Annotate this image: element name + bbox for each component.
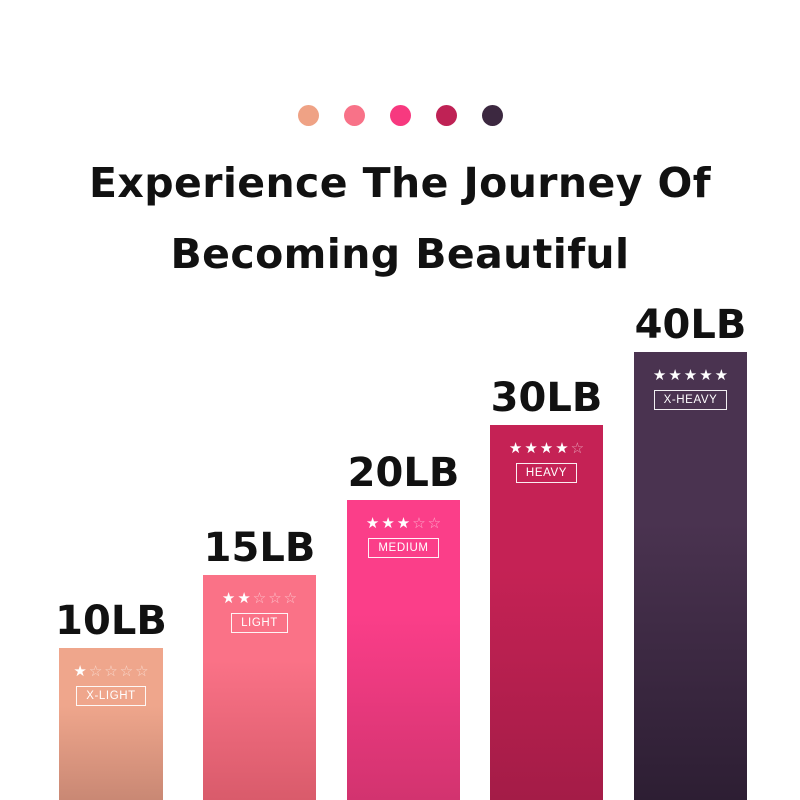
star-empty-icon: ☆ bbox=[89, 664, 102, 679]
star-filled-icon: ★ bbox=[555, 441, 568, 456]
resistance-level-bar-chart: 10LB★☆☆☆☆X-LIGHT15LB★★☆☆☆LIGHT20LB★★★☆☆M… bbox=[0, 0, 800, 800]
bar-15lb-star-rating: ★★☆☆☆ bbox=[222, 591, 297, 606]
bar-20lb-level-label: MEDIUM bbox=[368, 538, 438, 558]
star-filled-icon: ★ bbox=[73, 664, 86, 679]
bar-10lb-column: ★☆☆☆☆X-LIGHT bbox=[59, 648, 163, 800]
bar-40lb-weight-label: 40LB bbox=[635, 305, 747, 345]
bar-10lb-star-rating: ★☆☆☆☆ bbox=[73, 664, 148, 679]
star-empty-icon: ☆ bbox=[268, 591, 281, 606]
star-filled-icon: ★ bbox=[715, 368, 728, 383]
bar-10lb-level-label: X-LIGHT bbox=[76, 686, 146, 706]
bar-10lb-weight-label: 10LB bbox=[55, 601, 167, 641]
star-filled-icon: ★ bbox=[237, 591, 250, 606]
bar-20lb[interactable]: 20LB★★★☆☆MEDIUM bbox=[347, 500, 460, 800]
star-filled-icon: ★ bbox=[668, 368, 681, 383]
bar-20lb-weight-label: 20LB bbox=[348, 453, 460, 493]
star-filled-icon: ★ bbox=[366, 516, 379, 531]
star-filled-icon: ★ bbox=[699, 368, 712, 383]
bar-15lb-level-label: LIGHT bbox=[231, 613, 288, 633]
bar-20lb-badge: ★★★☆☆MEDIUM bbox=[347, 516, 460, 558]
bar-30lb-star-rating: ★★★★☆ bbox=[509, 441, 584, 456]
bar-15lb-badge: ★★☆☆☆LIGHT bbox=[203, 591, 316, 633]
bar-40lb-column: ★★★★★X-HEAVY bbox=[634, 352, 747, 800]
star-filled-icon: ★ bbox=[381, 516, 394, 531]
star-empty-icon: ☆ bbox=[135, 664, 148, 679]
bar-30lb-level-label: HEAVY bbox=[516, 463, 577, 483]
product-infographic: Experience The Journey Of Becoming Beaut… bbox=[0, 0, 800, 800]
star-filled-icon: ★ bbox=[684, 368, 697, 383]
star-filled-icon: ★ bbox=[222, 591, 235, 606]
star-empty-icon: ☆ bbox=[104, 664, 117, 679]
bar-10lb-badge: ★☆☆☆☆X-LIGHT bbox=[59, 664, 163, 706]
bar-20lb-column: ★★★☆☆MEDIUM bbox=[347, 500, 460, 800]
star-empty-icon: ☆ bbox=[428, 516, 441, 531]
bar-30lb[interactable]: 30LB★★★★☆HEAVY bbox=[490, 425, 603, 800]
bar-30lb-column: ★★★★☆HEAVY bbox=[490, 425, 603, 800]
bar-40lb-star-rating: ★★★★★ bbox=[653, 368, 728, 383]
bar-40lb[interactable]: 40LB★★★★★X-HEAVY bbox=[634, 352, 747, 800]
star-empty-icon: ☆ bbox=[253, 591, 266, 606]
star-filled-icon: ★ bbox=[509, 441, 522, 456]
star-filled-icon: ★ bbox=[653, 368, 666, 383]
bar-15lb[interactable]: 15LB★★☆☆☆LIGHT bbox=[203, 575, 316, 800]
bar-30lb-weight-label: 30LB bbox=[491, 378, 603, 418]
bar-15lb-column: ★★☆☆☆LIGHT bbox=[203, 575, 316, 800]
star-empty-icon: ☆ bbox=[284, 591, 297, 606]
star-filled-icon: ★ bbox=[524, 441, 537, 456]
bar-40lb-badge: ★★★★★X-HEAVY bbox=[634, 368, 747, 410]
bar-30lb-badge: ★★★★☆HEAVY bbox=[490, 441, 603, 483]
star-empty-icon: ☆ bbox=[571, 441, 584, 456]
bar-10lb[interactable]: 10LB★☆☆☆☆X-LIGHT bbox=[59, 648, 163, 800]
star-empty-icon: ☆ bbox=[120, 664, 133, 679]
star-empty-icon: ☆ bbox=[412, 516, 425, 531]
bar-15lb-weight-label: 15LB bbox=[204, 528, 316, 568]
bar-20lb-star-rating: ★★★☆☆ bbox=[366, 516, 441, 531]
star-filled-icon: ★ bbox=[397, 516, 410, 531]
bar-40lb-level-label: X-HEAVY bbox=[654, 390, 728, 410]
star-filled-icon: ★ bbox=[540, 441, 553, 456]
